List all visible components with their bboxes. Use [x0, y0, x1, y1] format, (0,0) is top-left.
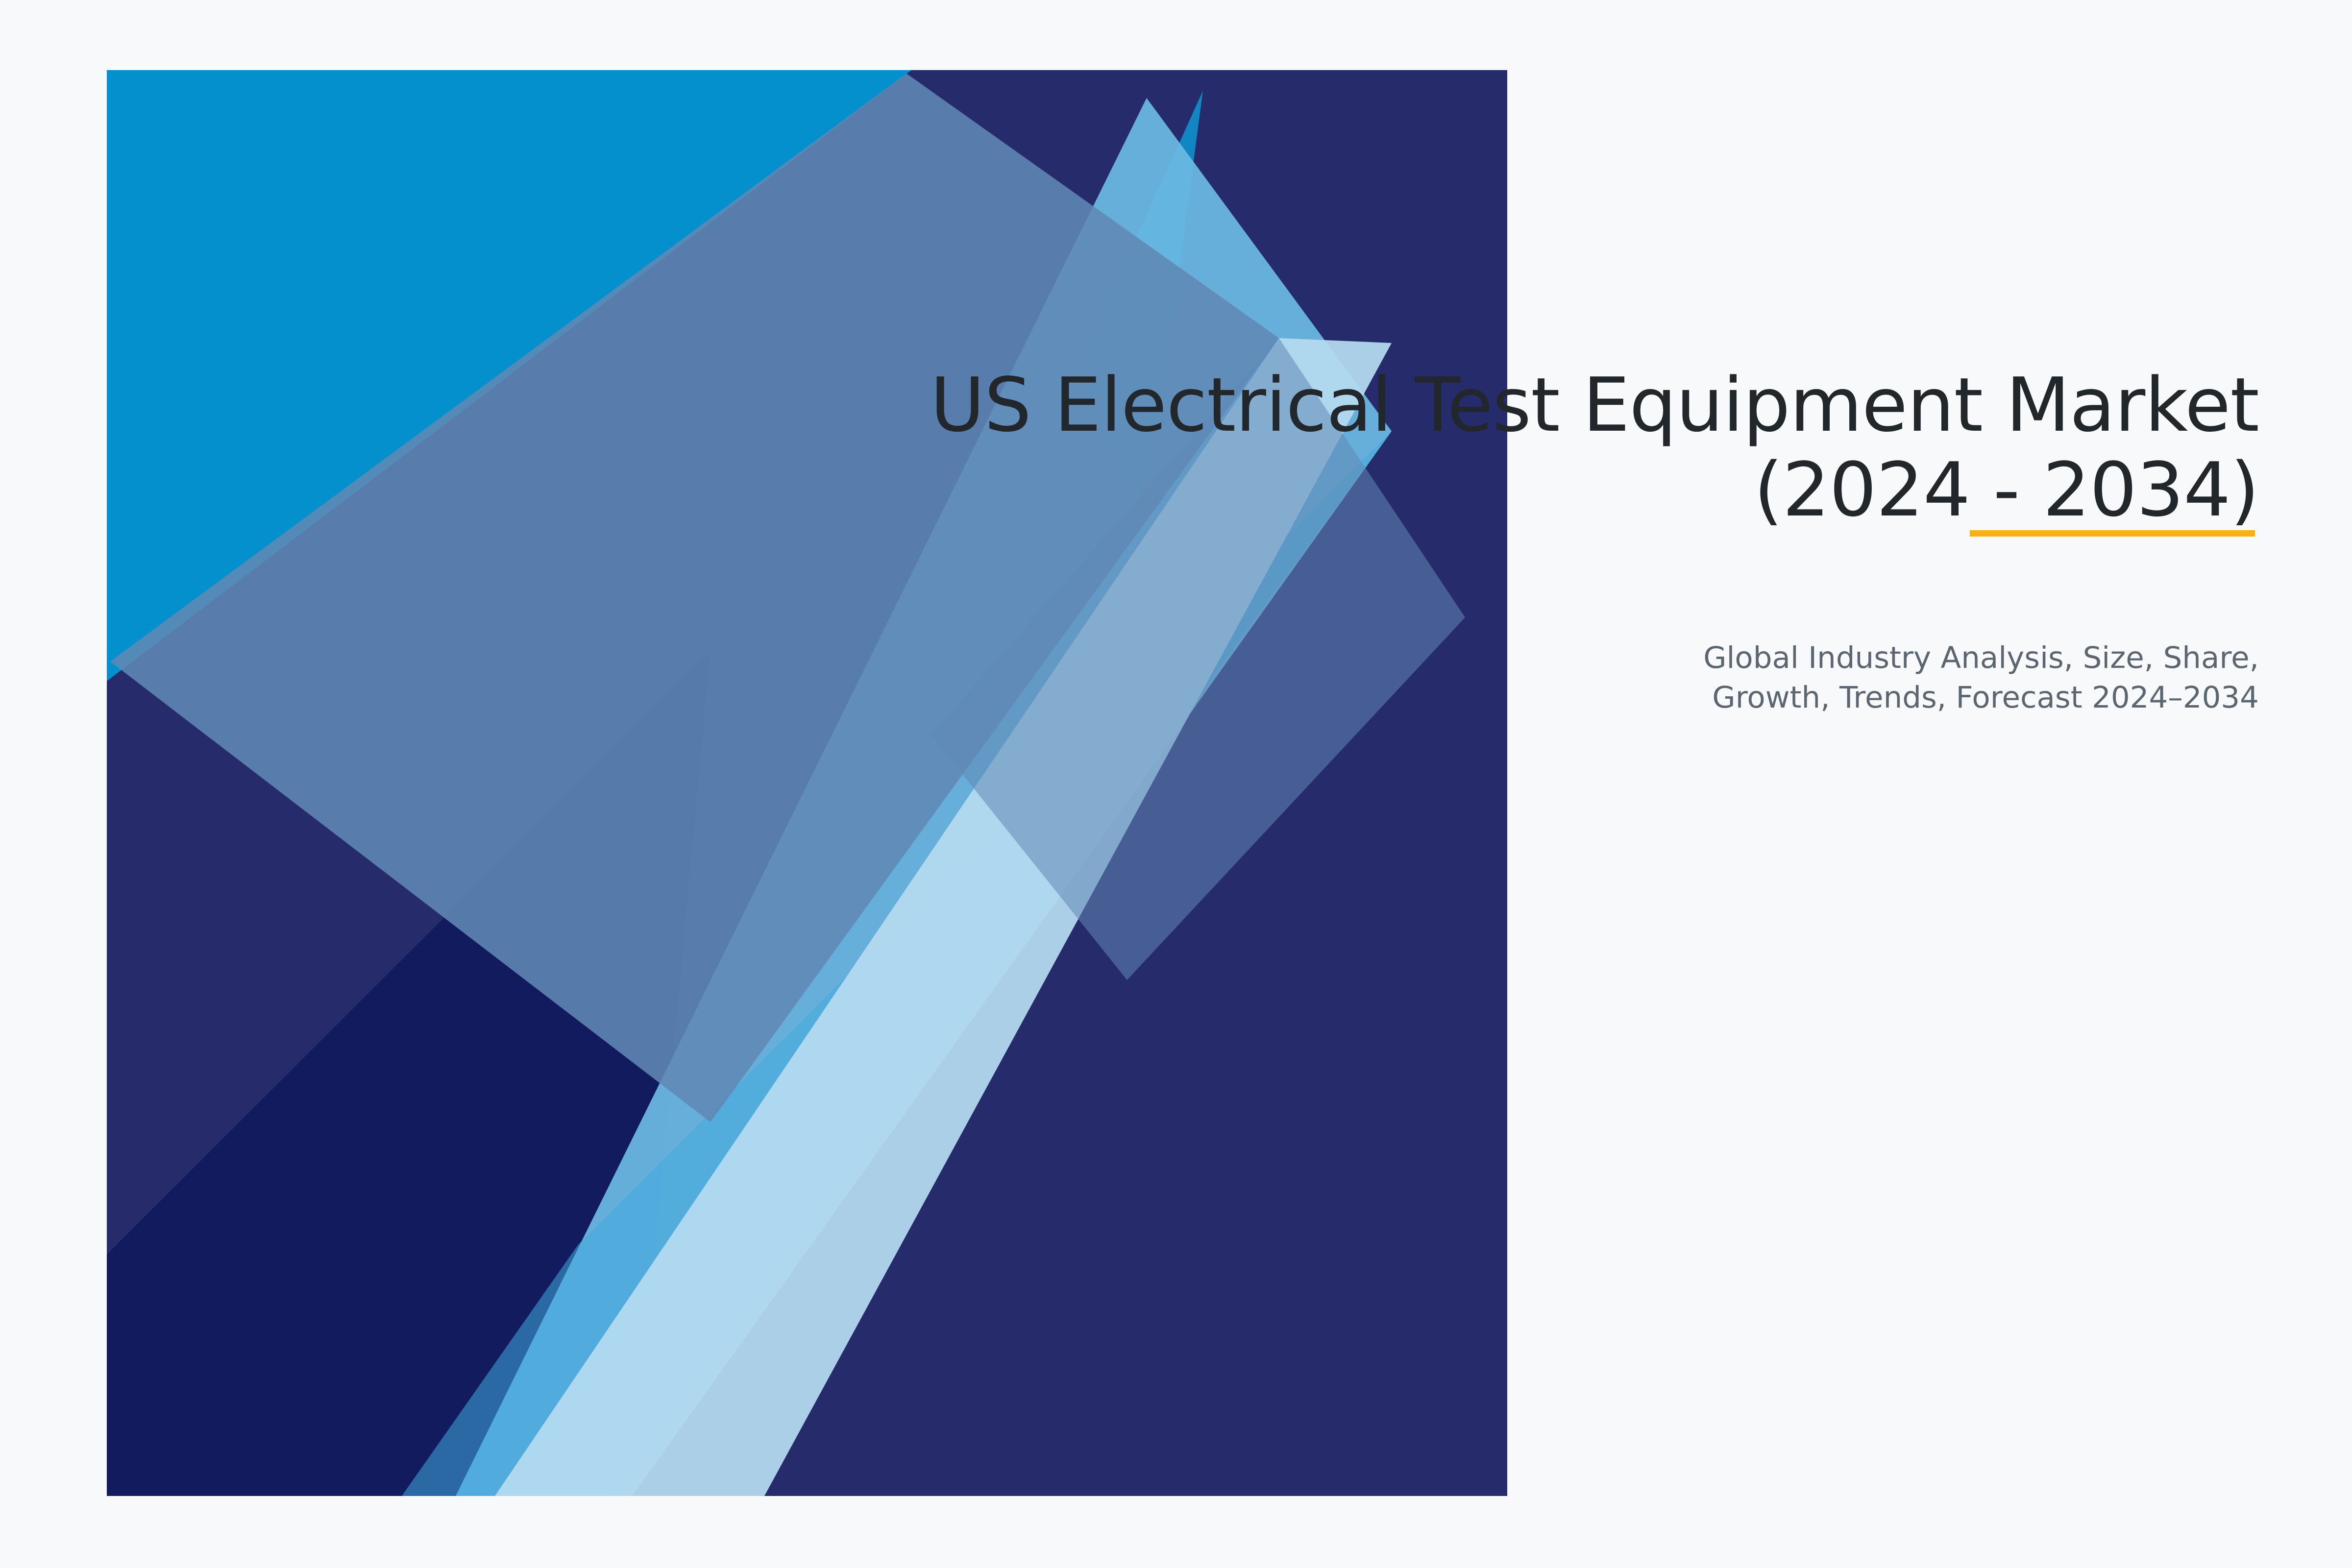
- page-subtitle: Global Industry Analysis, Size, Share, G…: [1274, 638, 2259, 717]
- page-title: US Electrical Test Equipment Market (202…: [735, 363, 2259, 533]
- report-cover-page: US Electrical Test Equipment Market (202…: [0, 0, 2352, 1568]
- accent-underline: [1970, 530, 2255, 537]
- cover-text-block: US Electrical Test Equipment Market (202…: [735, 363, 2259, 533]
- abstract-geometric-banner: [0, 0, 2352, 1568]
